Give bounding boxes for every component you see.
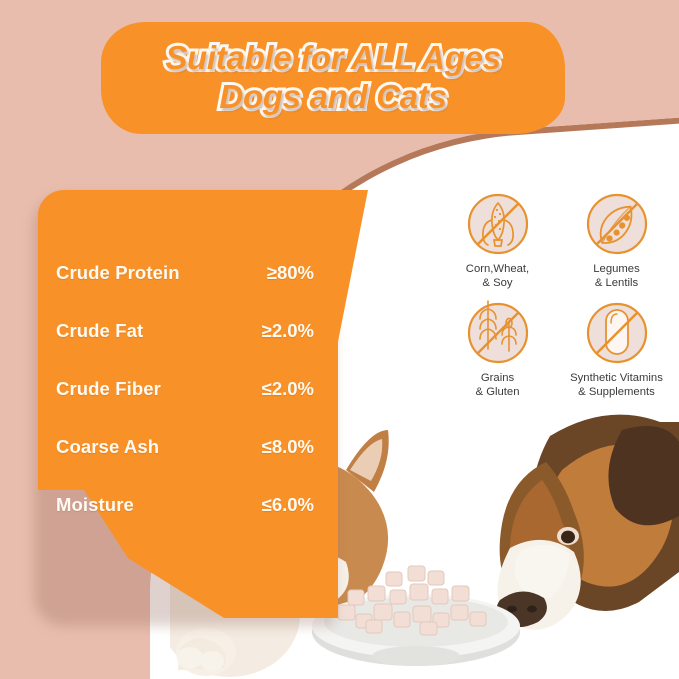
badge-legumes-lentils: Legumes & Lentils (559, 190, 674, 293)
badge-corn-wheat-soy: Corn,Wheat, & Soy (440, 190, 555, 293)
nutrient-name: Moisture (56, 494, 134, 516)
badge-label: Synthetic Vitamins & Supplements (570, 372, 663, 400)
table-row: Crude Fat ≥2.0% (56, 320, 314, 358)
badge-synthetic-vitamins: Synthetic Vitamins & Supplements (559, 299, 674, 402)
wheat-icon (464, 299, 532, 367)
headline-banner: Suitable for ALL Ages Dogs and Cats (101, 22, 565, 134)
nutrient-value: ≤2.0% (262, 378, 314, 400)
corn-icon (464, 190, 532, 258)
free-from-badges: Corn,Wheat, & Soy Legumes & Lentils (440, 190, 674, 402)
badge-label: Corn,Wheat, & Soy (466, 263, 529, 291)
table-row: Crude Protein ≥80% (56, 262, 314, 300)
headline-line-2: Dogs and Cats (219, 78, 446, 117)
nutrient-name: Crude Protein (56, 262, 180, 284)
nutrient-value: ≤8.0% (262, 436, 314, 458)
table-row: Coarse Ash ≤8.0% (56, 436, 314, 474)
nutrient-name: Crude Fat (56, 320, 143, 342)
badge-grains-gluten: Grains & Gluten (440, 299, 555, 402)
capsule-icon (583, 299, 651, 367)
nutrient-name: Coarse Ash (56, 436, 159, 458)
nutrient-value: ≥80% (267, 262, 314, 284)
table-row: Crude Fiber ≤2.0% (56, 378, 314, 416)
table-row: Moisture ≤6.0% (56, 494, 314, 532)
badge-label: Legumes & Lentils (593, 263, 639, 291)
badge-label: Grains & Gluten (476, 372, 520, 400)
nutrient-name: Crude Fiber (56, 378, 161, 400)
product-infographic: Crude Protein ≥80% Crude Fat ≥2.0% Crude… (0, 0, 679, 679)
pea-pod-icon (583, 190, 651, 258)
nutrition-table: Crude Protein ≥80% Crude Fat ≥2.0% Crude… (56, 262, 314, 552)
nutrient-value: ≥2.0% (262, 320, 314, 342)
headline-line-1: Suitable for ALL Ages (165, 39, 500, 78)
nutrient-value: ≤6.0% (262, 494, 314, 516)
